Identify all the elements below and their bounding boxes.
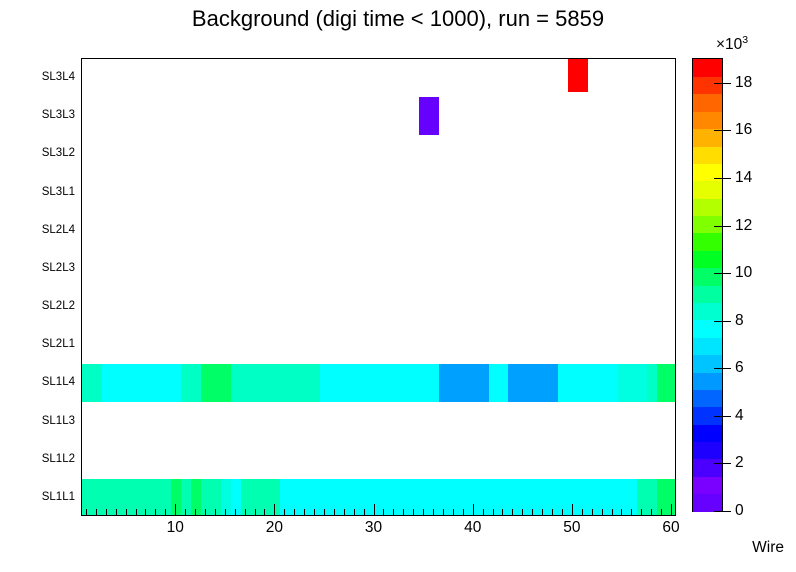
x-axis-minor-tick (532, 509, 533, 516)
color-bar-band (693, 146, 722, 164)
page-title: Background (digi time < 1000), run = 585… (0, 6, 796, 32)
color-bar-tick-label: 12 (735, 217, 752, 235)
color-bar-band (693, 494, 722, 512)
root-canvas: Background (digi time < 1000), run = 585… (0, 0, 796, 572)
x-axis-minor-tick (136, 509, 137, 516)
x-axis-minor-tick (443, 509, 444, 516)
color-bar-band (693, 76, 722, 94)
x-axis-minor-tick (195, 509, 196, 516)
color-bar-band (693, 181, 722, 199)
x-axis-minor-tick (106, 509, 107, 516)
y-axis-tick-label: SL1L2 (42, 453, 75, 465)
x-axis-minor-tick (522, 509, 523, 516)
x-axis-tick-label: 50 (563, 519, 580, 537)
x-axis-minor-tick (423, 509, 424, 516)
color-bar-tick (714, 226, 731, 227)
x-axis-minor-tick (453, 509, 454, 516)
x-axis-minor-tick (96, 509, 97, 516)
color-bar-tick-label: 4 (735, 407, 744, 425)
x-axis-major-tick (671, 504, 672, 516)
color-bar-exponent: ×103 (716, 34, 748, 54)
x-axis-minor-tick (264, 509, 265, 516)
x-axis-minor-tick (235, 509, 236, 516)
x-axis-minor-tick (552, 509, 553, 516)
x-axis-minor-tick (314, 509, 315, 516)
x-axis-minor-tick (215, 509, 216, 516)
x-axis-minor-tick (483, 509, 484, 516)
x-axis-minor-tick (225, 509, 226, 516)
color-bar-tick-label: 18 (735, 74, 752, 92)
color-bar-tick-label: 0 (735, 502, 744, 520)
x-axis-major-tick (572, 504, 573, 516)
y-axis-tick-label: SL2L3 (42, 262, 75, 274)
heatmap-cell (419, 97, 439, 135)
x-axis-minor-tick (602, 509, 603, 516)
color-bar-band (693, 459, 722, 477)
color-bar-band (693, 320, 722, 338)
color-bar-band (693, 198, 722, 216)
x-axis-minor-tick (641, 509, 642, 516)
x-axis-minor-tick (334, 509, 335, 516)
x-axis-minor-tick (245, 509, 246, 516)
y-axis-tick-label: SL1L4 (42, 376, 75, 388)
y-axis-tick-label: SL2L2 (42, 300, 75, 312)
x-axis-tick-label: 30 (365, 519, 382, 537)
x-axis-minor-tick (413, 509, 414, 516)
color-bar-tick (714, 273, 731, 274)
heatmap-plot-area (82, 59, 675, 515)
x-axis-tick-label: 10 (167, 519, 184, 537)
x-axis-minor-tick (502, 509, 503, 516)
y-axis-tick-label: SL3L4 (42, 71, 75, 83)
heatmap-cell (657, 364, 675, 402)
color-bar-band (693, 441, 722, 459)
x-axis-major-tick (175, 504, 176, 516)
color-bar-tick (714, 178, 731, 179)
x-axis-minor-tick (433, 509, 434, 516)
x-axis-minor-tick (403, 509, 404, 516)
color-bar-band (693, 59, 722, 77)
x-axis-tick-label: 20 (266, 519, 283, 537)
color-bar-band (693, 337, 722, 355)
color-bar-exponent-value: 3 (742, 34, 748, 46)
x-axis-minor-tick (126, 509, 127, 516)
x-axis-minor-tick (155, 509, 156, 516)
x-axis-major-tick (473, 504, 474, 516)
x-axis-minor-tick (562, 509, 563, 516)
x-axis-minor-tick (294, 509, 295, 516)
y-axis-tick-label: SL2L1 (42, 338, 75, 350)
x-axis-minor-tick (255, 509, 256, 516)
color-bar-tick (714, 368, 731, 369)
y-axis-tick-label: SL2L4 (42, 224, 75, 236)
y-axis-tick-label: SL3L2 (42, 147, 75, 159)
color-bar (692, 58, 723, 512)
y-axis-tick-label: SL1L3 (42, 415, 75, 427)
color-bar-tick (714, 321, 731, 322)
color-bar-tick-label: 14 (735, 169, 752, 187)
color-bar-tick (714, 463, 731, 464)
x-axis-minor-tick (284, 509, 285, 516)
x-axis-minor-tick (354, 509, 355, 516)
color-bar-tick (714, 416, 731, 417)
x-axis-minor-tick (542, 509, 543, 516)
color-bar-band (693, 111, 722, 129)
y-axis-tick-label: SL1L1 (42, 491, 75, 503)
heatmap-cell (558, 364, 618, 402)
color-bar-tick-label: 2 (735, 454, 744, 472)
x-axis-major-tick (374, 504, 375, 516)
y-axis-labels: SL1L1SL1L2SL1L3SL1L4SL2L1SL2L2SL2L3SL2L4… (20, 0, 75, 572)
heatmap-cell (231, 364, 330, 402)
x-axis-minor-tick (661, 509, 662, 516)
x-axis-minor-tick (493, 509, 494, 516)
x-axis-tick-label: 40 (464, 519, 481, 537)
x-axis-minor-tick (145, 509, 146, 516)
heatmap-cell (568, 59, 588, 92)
plot-frame (81, 58, 676, 516)
color-bar-band (693, 94, 722, 112)
x-axis-minor-tick (165, 509, 166, 516)
color-bar-tick-label: 8 (735, 312, 744, 330)
x-axis-minor-tick (582, 509, 583, 516)
x-axis-minor-tick (383, 509, 384, 516)
color-bar-tick (714, 83, 731, 84)
color-bar-band (693, 250, 722, 268)
color-bar-band (693, 302, 722, 320)
color-bar-tick-label: 16 (735, 121, 752, 139)
color-bar-band (693, 372, 722, 390)
x-axis-tick-label: 60 (662, 519, 679, 537)
color-bar-band (693, 424, 722, 442)
color-bar-band (693, 389, 722, 407)
color-bar-tick (714, 511, 731, 512)
heatmap-cell (320, 364, 439, 402)
color-bar-tick-label: 10 (735, 264, 752, 282)
x-axis-minor-tick (304, 509, 305, 516)
x-axis-minor-tick (592, 509, 593, 516)
color-bar-band (693, 233, 722, 251)
x-axis-minor-tick (324, 509, 325, 516)
x-axis-minor-tick (463, 509, 464, 516)
x-axis-minor-tick (185, 509, 186, 516)
x-axis-minor-tick (86, 509, 87, 516)
heatmap-cell (102, 364, 191, 402)
x-axis-minor-tick (364, 509, 365, 516)
x-axis-minor-tick (344, 509, 345, 516)
color-bar-tick (714, 130, 731, 131)
x-axis-minor-tick (512, 509, 513, 516)
color-bar-band (693, 355, 722, 373)
color-bar-band (693, 268, 722, 286)
x-axis-minor-tick (116, 509, 117, 516)
x-axis-minor-tick (631, 509, 632, 516)
x-axis-minor-tick (651, 509, 652, 516)
color-bar-tick-label: 6 (735, 359, 744, 377)
color-bar-band (693, 129, 722, 147)
heatmap-cell (657, 479, 675, 515)
x-axis-minor-tick (621, 509, 622, 516)
color-bar-band (693, 476, 722, 494)
y-axis-tick-label: SL3L3 (42, 109, 75, 121)
x-axis-minor-tick (393, 509, 394, 516)
x-axis-title: Wire (752, 539, 784, 557)
x-axis-major-tick (274, 504, 275, 516)
y-axis-tick-label: SL3L1 (42, 186, 75, 198)
color-bar-band (693, 215, 722, 233)
color-bar-band (693, 285, 722, 303)
x-axis-minor-tick (612, 509, 613, 516)
x-axis-minor-tick (205, 509, 206, 516)
